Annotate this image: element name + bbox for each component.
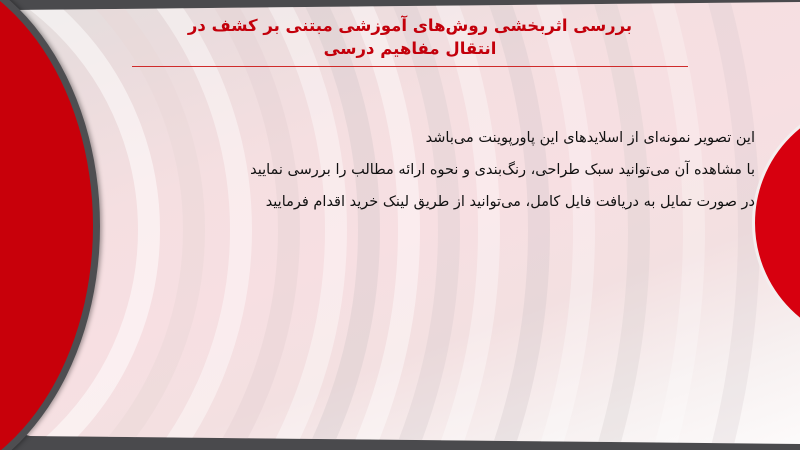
body-line: این تصویر نمونه‌ای از اسلایدهای این پاور… bbox=[100, 122, 755, 154]
slide-title-block: بررسی اثربخشی روش‌های آموزشی مبتنی بر کش… bbox=[132, 14, 688, 67]
body-line: با مشاهده آن می‌توانید سبک طراحی، رنگ‌بن… bbox=[100, 154, 755, 186]
background-arc bbox=[0, 0, 705, 450]
slide-content-panel bbox=[0, 0, 800, 450]
slide-title: بررسی اثربخشی روش‌های آموزشی مبتنی بر کش… bbox=[132, 14, 688, 61]
presentation-slide: بررسی اثربخشی روش‌های آموزشی مبتنی بر کش… bbox=[0, 0, 800, 450]
body-line: در صورت تمایل به دریافت فایل کامل، می‌تو… bbox=[100, 186, 755, 218]
background-arc bbox=[0, 0, 760, 450]
title-underline-rule bbox=[132, 66, 688, 67]
slide-body-block: این تصویر نمونه‌ای از اسلایدهای این پاور… bbox=[100, 122, 755, 219]
